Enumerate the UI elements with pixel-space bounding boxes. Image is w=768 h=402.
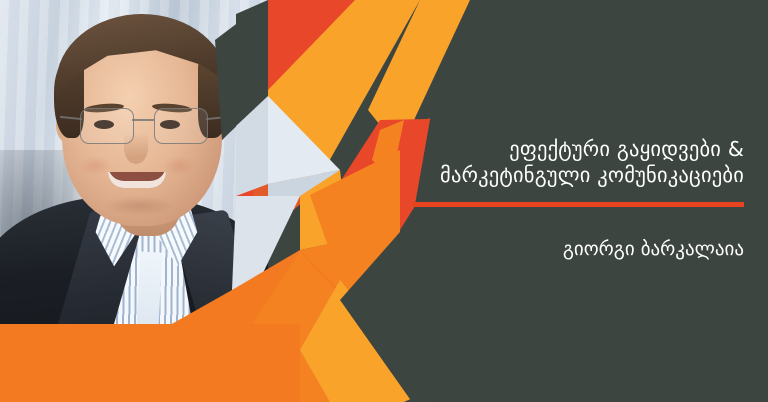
- title-line-2: მარკეტინგული კომუნიკაციები: [388, 162, 744, 188]
- text-panel: ეფექტური გაყიდვები & მარკეტინგული კომუნი…: [388, 0, 768, 402]
- title-block: ეფექტური გაყიდვები & მარკეტინგული კომუნი…: [388, 136, 744, 188]
- title-underline-rule: [412, 202, 744, 207]
- speaker-name: გიორგი ბარკალაია: [388, 237, 744, 261]
- title-line-1: ეფექტური გაყიდვები &: [388, 136, 744, 162]
- event-banner: ეფექტური გაყიდვები & მარკეტინგული კომუნი…: [0, 0, 768, 402]
